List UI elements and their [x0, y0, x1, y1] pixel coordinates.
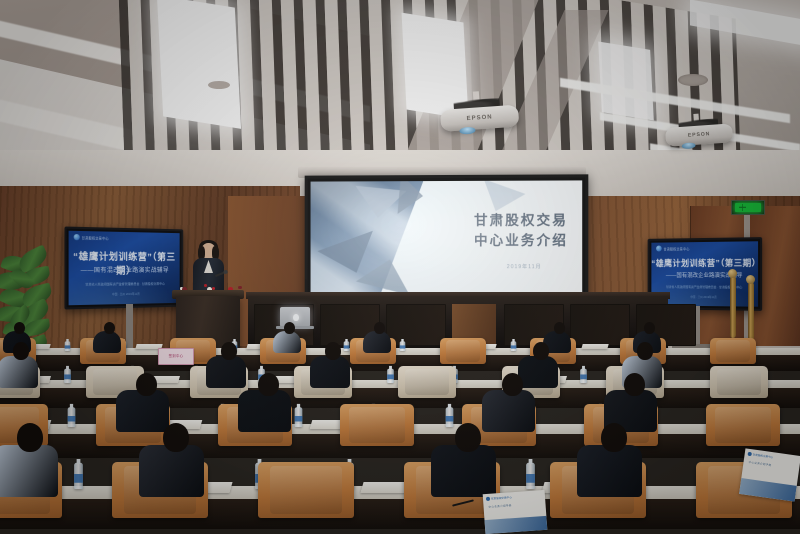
slide-title: 甘肃股权交易 中心业务介绍: [474, 211, 568, 250]
logo-mark-icon: [486, 497, 490, 501]
audience-head: [554, 322, 565, 334]
water-bottle[interactable]: [526, 463, 535, 489]
audience-member[interactable]: [442, 423, 507, 501]
audience-head: [533, 342, 549, 360]
audience-body: [206, 356, 246, 388]
audience-member[interactable]: [368, 322, 396, 355]
brochure-logo-label: 甘肃股权交易中心: [752, 452, 773, 459]
water-bottle[interactable]: [65, 369, 72, 383]
chair-cushion: [715, 407, 771, 442]
exit-sign: [731, 200, 765, 215]
brochure-subtitle: 中心业务介绍手册: [488, 503, 511, 509]
audience-body: [431, 445, 496, 497]
water-bottle[interactable]: [387, 369, 394, 383]
table-name-card-text: 签到中心: [159, 353, 193, 358]
audience-head: [601, 423, 627, 452]
audience-body: [93, 331, 121, 353]
audience-head: [455, 423, 481, 452]
audience-head: [221, 342, 237, 360]
brochure-logo: 甘肃股权交易中心: [747, 452, 773, 460]
paper-sheet[interactable]: [581, 344, 608, 349]
table-name-card: 签到中心: [158, 348, 194, 365]
audience-head: [374, 322, 385, 334]
tv-right-logo-label: 甘肃股权交易中心: [664, 246, 690, 251]
apple-logo-icon: [293, 314, 299, 321]
audience-member[interactable]: [588, 423, 653, 501]
tv-right-line-2: ——国有混改企业路演实战辅导: [651, 271, 758, 279]
chair[interactable]: [710, 338, 756, 364]
audience-head: [644, 322, 655, 334]
tv-left-line-4: 中国 · 兰州 2019年11月: [69, 291, 180, 297]
bottle-label: [65, 375, 72, 380]
audience-body: [363, 331, 391, 353]
brochure: 甘肃股权交易中心中心业务介绍手册: [483, 490, 548, 534]
ceiling-light-panel: [157, 0, 241, 129]
audience-body: [577, 445, 642, 497]
stanchion-cap-icon: [746, 275, 755, 284]
projection-screen-surface: 甘肃股权交易 中心业务介绍 2019年11月: [311, 180, 583, 295]
audience-head: [104, 322, 115, 334]
stanchion-cap-icon: [728, 269, 737, 278]
brochure-band: [485, 516, 548, 534]
tv-left-logo-label: 甘肃股权交易中心: [82, 235, 109, 241]
audience-head: [284, 322, 295, 334]
audience-head: [17, 423, 43, 452]
audience-head: [13, 342, 29, 360]
tv-left-surface: 甘肃股权交易中心 “雄鹰计划训练营”（第三期） ——国有混改企业路演实战辅导 甘…: [69, 231, 180, 306]
audience-head: [325, 342, 341, 360]
brochure-logo-label: 甘肃股权交易中心: [491, 495, 512, 500]
chair-cushion: [349, 407, 405, 442]
slide-title-line-1: 甘肃股权交易: [474, 211, 568, 231]
audience-member[interactable]: [150, 423, 215, 501]
bottle-label: [74, 474, 83, 482]
stanchion-post: [730, 276, 736, 338]
ceiling-light-panel: [598, 42, 654, 121]
exit-icon: [735, 203, 761, 212]
audience-member[interactable]: [278, 322, 306, 355]
tv-left-line-2: ——国有混改企业路演实战辅导: [69, 265, 180, 274]
bottle-label: [387, 375, 394, 380]
audience-body: [238, 390, 291, 432]
audience-body: [273, 331, 301, 353]
bottle-label: [580, 375, 587, 380]
projector-brand-label: EPSON: [688, 132, 711, 139]
bottle-label: [64, 345, 70, 348]
audience-body: [139, 445, 204, 497]
water-bottle[interactable]: [399, 341, 405, 351]
tv-right-line-3: 甘肃省人民政府国有资产监督管理委员会 · 甘肃股权交易中心: [651, 285, 758, 290]
tv-right-logo: 甘肃股权交易中心: [656, 245, 689, 251]
tv-left-logo: 甘肃股权交易中心: [74, 234, 109, 241]
brochure: 甘肃股权交易中心中心业务介绍手册: [739, 448, 800, 501]
water-bottle[interactable]: [580, 369, 587, 383]
conference-room-photo: EPSON EPSON 甘肃股权交易 中心业务介绍 2019年11月: [0, 0, 800, 534]
chair[interactable]: [440, 338, 486, 364]
chair[interactable]: [710, 366, 768, 398]
logo-mark-icon: [656, 246, 662, 252]
tv-left-stand: [126, 304, 133, 352]
bottle-label: [67, 416, 75, 422]
air-vent-icon: [208, 81, 230, 89]
bottle-label: [445, 416, 453, 422]
chair-cushion: [446, 340, 481, 362]
water-bottle[interactable]: [511, 341, 517, 351]
flower: [204, 284, 207, 287]
bottle-label: [399, 345, 405, 348]
flower: [238, 286, 241, 289]
tv-display-left: 甘肃股权交易中心 “雄鹰计划训练营”（第三期） ——国有混改企业路演实战辅导 甘…: [64, 226, 183, 309]
audience-head: [258, 373, 279, 396]
audience-head: [136, 373, 157, 396]
audience-body: [0, 356, 38, 388]
audience-head: [637, 342, 653, 360]
tv-left-line-3: 甘肃省人民政府国有资产监督管理委员会 · 甘肃股权交易中心: [69, 281, 180, 287]
audience-head: [502, 373, 523, 396]
stanchion-post: [748, 282, 754, 344]
water-bottle[interactable]: [64, 341, 70, 351]
projection-screen: 甘肃股权交易 中心业务介绍 2019年11月: [305, 174, 589, 301]
audience-head: [163, 423, 189, 452]
tv-left-line-1: “雄鹰计划训练营”（第三期）: [69, 248, 180, 277]
audience-member[interactable]: [4, 423, 69, 501]
water-bottle[interactable]: [74, 463, 83, 489]
chair-cushion: [270, 466, 343, 513]
audience-member[interactable]: [98, 322, 126, 355]
logo-mark-icon: [74, 234, 80, 240]
chair[interactable]: [706, 404, 780, 446]
chair-cushion: [717, 369, 761, 396]
audience-head: [624, 373, 645, 396]
audience-body: [310, 356, 350, 388]
chair[interactable]: [398, 366, 456, 398]
brochure-logo: 甘肃股权交易中心: [486, 495, 512, 501]
tv-right-line-1: “雄鹰计划训练营”（第三期）: [651, 257, 758, 270]
chair[interactable]: [258, 462, 354, 518]
bottle-label: [511, 345, 517, 348]
audience-member[interactable]: [317, 342, 357, 390]
slide-title-line-2: 中心业务介绍: [474, 230, 568, 250]
brochure-subtitle: 中心业务介绍手册: [748, 460, 771, 467]
chair[interactable]: [340, 404, 414, 446]
audience-body: [0, 445, 58, 497]
air-vent-icon: [678, 74, 708, 86]
slide-triangle-icon: [397, 180, 424, 216]
projector-brand-label: EPSON: [466, 114, 492, 122]
audience-member[interactable]: [248, 373, 301, 436]
audience-member[interactable]: [5, 342, 45, 390]
chair-cushion: [405, 369, 449, 396]
bottle-label: [526, 474, 535, 482]
slide-date: 2019年11月: [507, 263, 542, 270]
logo-mark-icon: [747, 452, 752, 457]
chair-cushion: [716, 340, 751, 362]
audience-head: [14, 322, 25, 334]
